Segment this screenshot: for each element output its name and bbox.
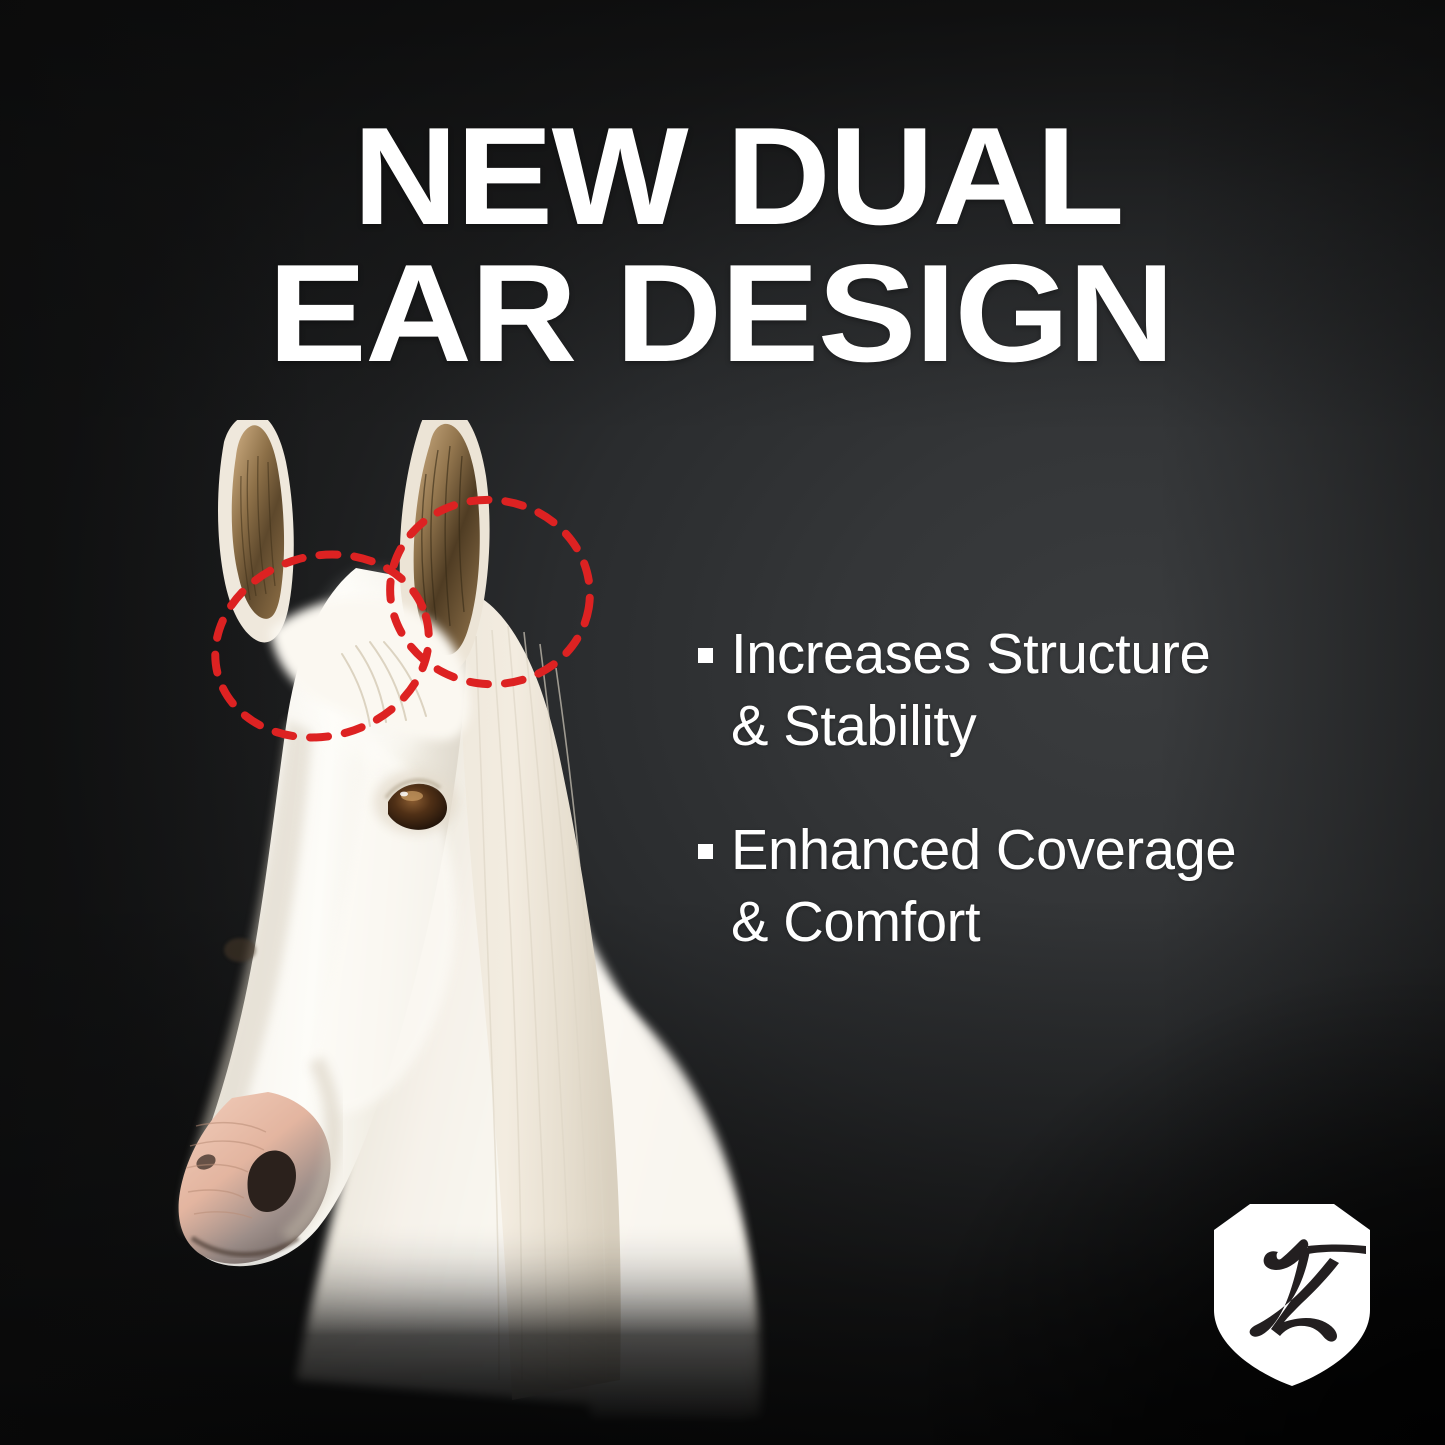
square-bullet-icon (698, 844, 713, 859)
headline-block: NEW DUAL EAR DESIGN (268, 108, 1208, 382)
headline-line-1: NEW DUAL (247, 108, 1229, 245)
marketing-graphic: NEW DUAL EAR DESIGN Increases Structure … (0, 0, 1445, 1445)
list-item: Enhanced Coverage & Comfort (698, 814, 1378, 958)
list-item: Increases Structure & Stability (698, 618, 1378, 762)
benefit-2-line-2: & Comfort (731, 886, 1236, 958)
benefit-text-1: Increases Structure & Stability (731, 618, 1210, 762)
benefit-text-2: Enhanced Coverage & Comfort (731, 814, 1236, 958)
benefit-1-line-2: & Stability (731, 690, 1210, 762)
benefit-1-line-1: Increases Structure (731, 618, 1210, 690)
benefit-2-line-1: Enhanced Coverage (731, 814, 1236, 886)
headline-line-2: EAR DESIGN (268, 245, 1269, 382)
square-bullet-icon (698, 648, 713, 663)
brand-logo (1208, 1198, 1376, 1390)
benefits-list: Increases Structure & Stability Enhanced… (698, 618, 1378, 1010)
